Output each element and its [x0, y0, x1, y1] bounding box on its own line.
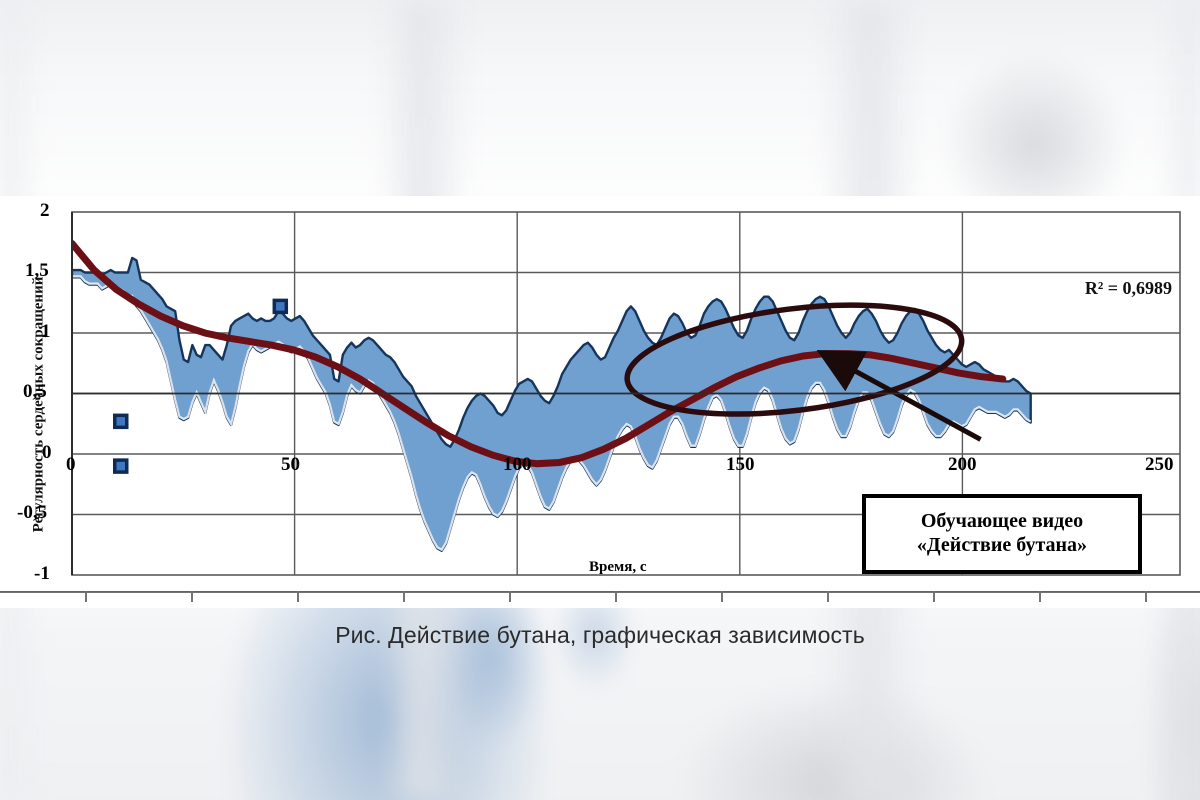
ruler-tick [85, 591, 87, 602]
ruler-tick [827, 591, 829, 602]
callout-line-2: «Действие бутана» [917, 534, 1087, 558]
scatter-marker [115, 415, 127, 427]
x-tick-label-100: 100 [503, 454, 532, 476]
x-axis-title: Время, с [589, 559, 647, 576]
x-tick-label-200: 200 [948, 454, 977, 476]
x-tick-label-250: 250 [1145, 454, 1174, 476]
callout-box: Обучающее видео «Действие бутана» [862, 494, 1142, 574]
y-tick-label-0-5: 0,5 [23, 381, 47, 403]
screenshot-root: Регулярность сердечных сокращений 2 1,5 … [0, 0, 1200, 800]
x-tick-label-50: 50 [281, 454, 300, 476]
ruler-tick [1039, 591, 1041, 602]
figure-caption: Рис. Действие бутана, графическая зависи… [0, 622, 1200, 649]
scatter-marker [274, 300, 286, 312]
ruler-tick [403, 591, 405, 602]
ruler-tick [615, 591, 617, 602]
r-squared-label: R² = 0,6989 [1085, 278, 1172, 299]
ruler-baseline [0, 591, 1200, 593]
bottom-ruler-strip [0, 586, 1200, 608]
ruler-tick [1145, 591, 1147, 602]
ruler-tick [509, 591, 511, 602]
y-tick-label-1: 1 [41, 321, 51, 343]
ruler-tick [933, 591, 935, 602]
y-tick-label-0: 0 [42, 442, 52, 464]
chart-figure: Регулярность сердечных сокращений 2 1,5 … [0, 196, 1200, 586]
ruler-tick [297, 591, 299, 602]
ruler-tick [191, 591, 193, 602]
y-tick-label-1-5: 1,5 [25, 260, 49, 282]
scatter-marker [115, 460, 127, 472]
y-tick-label-2: 2 [40, 200, 50, 222]
ruler-tick [721, 591, 723, 602]
callout-line-1: Обучающее видео [921, 510, 1083, 534]
x-tick-label-150: 150 [726, 454, 755, 476]
y-tick-label-neg-1: -1 [34, 563, 50, 585]
x-tick-label-0: 0 [66, 454, 76, 476]
y-tick-label-neg-0-5: -0,5 [17, 502, 47, 524]
